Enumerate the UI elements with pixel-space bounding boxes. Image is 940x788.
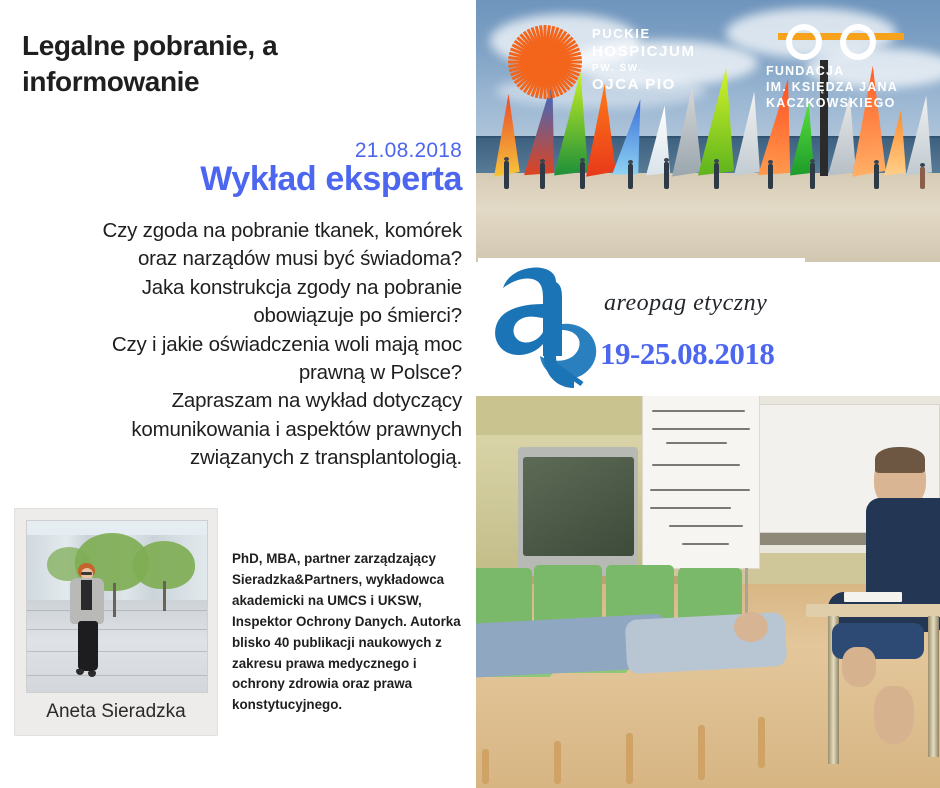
person-top xyxy=(81,580,92,610)
areopag-logo-icon xyxy=(486,264,602,390)
person-silhouette xyxy=(664,162,669,189)
areopag-panel: areopag etyczny 19-25.08.2018 xyxy=(478,258,805,392)
logo-line-4: OJCA PIO xyxy=(592,76,676,93)
description-line: prawną w Polsce? xyxy=(22,359,462,387)
glasses-icon xyxy=(778,22,904,60)
areopag-wordmark: areopag etyczny xyxy=(604,290,767,317)
chair-leg xyxy=(482,749,489,784)
seated-man-hair xyxy=(875,447,925,473)
glasses-lens-left xyxy=(786,24,822,60)
tree-trunk xyxy=(113,583,116,617)
chair-leg xyxy=(554,741,561,784)
flipchart-writing xyxy=(669,525,743,527)
description-line: obowiązuje po śmierci? xyxy=(22,302,462,330)
bare-foot xyxy=(874,686,914,744)
tv-screen xyxy=(523,457,634,555)
person-silhouette xyxy=(580,162,585,189)
sunburst-icon xyxy=(508,25,582,99)
flipchart-writing xyxy=(652,410,745,412)
desk-leg xyxy=(928,616,939,757)
photo-paving-line xyxy=(27,651,207,652)
description-line: związanych z transplantologią. xyxy=(22,444,462,472)
flipchart-writing xyxy=(666,442,726,444)
person-silhouette xyxy=(714,163,719,189)
logo-line-2: HOSPICJUM xyxy=(592,43,696,60)
description-text: Czy zgoda na pobranie tkanek, komórek or… xyxy=(22,217,462,473)
paper-sheet xyxy=(844,592,902,602)
flipchart-writing xyxy=(650,489,750,491)
logo-line-2: IM. KSIĘDZA JANA xyxy=(766,80,898,94)
person-silhouette xyxy=(504,161,509,189)
areopag-dates: 19-25.08.2018 xyxy=(600,336,774,372)
description-line: Jaka konstrukcja zgody na pobranie xyxy=(22,274,462,302)
lecture-title: Wykład eksperta xyxy=(200,160,462,199)
photo-paving-line xyxy=(27,675,207,676)
logo-line-1: PUCKIE xyxy=(592,26,651,41)
logo-line-3: KACZKOWSKIEGO xyxy=(766,96,896,110)
speaker-photo xyxy=(26,520,208,693)
chair-leg xyxy=(698,725,705,780)
speaker-name: Aneta Sieradzka xyxy=(15,701,217,723)
desk-top xyxy=(806,604,940,617)
chair-leg xyxy=(626,733,633,784)
person-silhouette xyxy=(628,164,633,189)
chair-leg xyxy=(758,717,765,768)
person-silhouette xyxy=(810,163,815,189)
sand xyxy=(476,173,940,262)
photo-paving-line xyxy=(27,610,207,611)
photo-plaza xyxy=(27,600,207,692)
flipchart-writing xyxy=(650,507,731,509)
person-legs xyxy=(78,621,98,671)
page-title: Legalne pobranie, a informowanie xyxy=(22,28,442,100)
glasses-icon xyxy=(81,572,92,575)
description-line: Czy i jakie oświadczenia woli mają moc xyxy=(22,331,462,359)
description-line: oraz narządów musi być świadoma? xyxy=(22,245,462,273)
tree-trunk xyxy=(163,581,166,611)
person-lying-head xyxy=(734,612,768,642)
glasses-lens-right xyxy=(840,24,876,60)
flipchart-writing xyxy=(652,464,740,466)
photo-paving-line xyxy=(27,629,207,630)
speaker-bio: PhD, MBA, partner zarządzający Sieradzka… xyxy=(232,549,464,716)
logo-puckie-hospicjum: PUCKIE HOSPICJUM PW. ŚW. OJCA PIO xyxy=(508,22,708,102)
logo-line-1: FUNDACJA xyxy=(766,64,844,78)
person-silhouette xyxy=(540,163,545,189)
person-silhouette xyxy=(874,164,879,189)
windsurf-sail xyxy=(884,110,906,176)
person-silhouette xyxy=(768,164,773,189)
flipchart-writing xyxy=(682,543,728,545)
description-line: Czy zgoda na pobranie tkanek, komórek xyxy=(22,217,462,245)
description-line: komunikowania i aspektów prawnych xyxy=(22,416,462,444)
lecture-room-photo xyxy=(476,396,940,788)
logo-line-3: PW. ŚW. xyxy=(592,63,643,74)
bare-foot xyxy=(842,647,876,687)
flipchart-writing xyxy=(652,428,749,430)
description-line: Zapraszam na wykład dotyczący xyxy=(22,387,462,415)
logo-fundacja-kaczkowskiego: FUNDACJA IM. KSIĘDZA JANA KACZKOWSKIEGO xyxy=(766,22,926,108)
speaker-card: Aneta Sieradzka xyxy=(14,508,218,736)
television xyxy=(518,447,639,576)
flipchart xyxy=(643,396,759,568)
person-silhouette xyxy=(920,167,925,189)
windsurf-sail xyxy=(734,92,760,176)
